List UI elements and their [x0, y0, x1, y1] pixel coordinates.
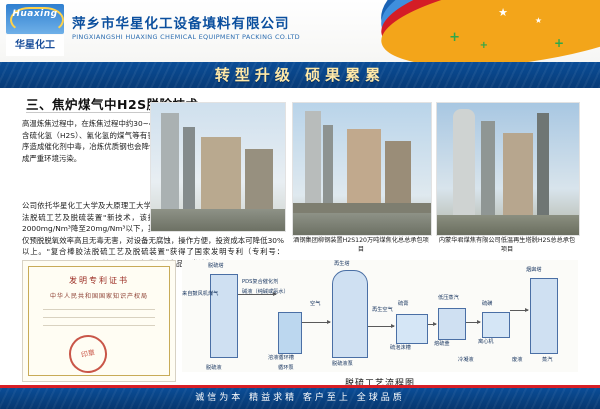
stream-label: 硫膏	[398, 300, 408, 307]
unit-label: 熔硫釜	[434, 340, 450, 347]
plus-icon: +	[449, 30, 460, 45]
building-shape	[245, 149, 273, 209]
unit-label: 烟囱塔	[526, 266, 542, 273]
plus-icon: +	[554, 36, 564, 50]
stream-label: 脱硫液泵	[332, 360, 353, 367]
tower-shape	[323, 125, 333, 215]
column-shape	[481, 121, 495, 215]
structure-shape	[503, 133, 533, 215]
logo-wordmark: Huaxing	[6, 9, 64, 19]
photo-ground	[437, 215, 579, 235]
brochure-page: Huaxing 华星化工 萍乡市华星化工设备填料有限公司 PINGXIANGSH…	[0, 0, 600, 409]
tower-shape	[305, 111, 321, 215]
photo-coke-oven-plant	[292, 102, 432, 236]
page-content: 三、焦炉煤气中H2S脱除技术 高温炼焦过程中，在炼焦过程中约30~40%以气态硫…	[0, 88, 600, 388]
plus-icon: +	[583, 18, 592, 31]
process-flow-diagram: 脱硫塔 溶液循环槽 再生塔 硫泡沫槽 熔硫釜 离心机 烟囱塔 来自鼓风机煤气 脱…	[182, 260, 578, 372]
stream-label: 再生空气	[372, 306, 393, 313]
patent-certificate: 发明专利证书 中华人民共和国国家知识产权局 印章	[22, 260, 176, 382]
unit-centrifuge	[482, 312, 510, 338]
stack-shape	[537, 113, 549, 215]
photo-caption-1: 酒钢集团柳钢装置H2S120万吨煤焦化总总承包项目	[292, 237, 430, 254]
stream-label: 冷凝液	[458, 356, 474, 363]
certificate-subtitle: 中华人民共和国国家知识产权局	[23, 291, 175, 300]
building-shape	[201, 137, 241, 209]
page-footer: 诚信为本 精益求精 客户至上 全球品质	[0, 388, 600, 409]
header-decoration: ★ ★ + + + +	[370, 0, 600, 62]
unit-desulfurization-tower	[210, 274, 238, 358]
certificate-title: 发明专利证书	[23, 275, 175, 286]
unit-label: 再生塔	[334, 260, 350, 267]
photo-caption-2: 内蒙华君煤焦有限公司低温再生塔脱H2S总总承包项目	[436, 237, 578, 254]
flow-arrow	[466, 322, 480, 323]
stream-label: PDS复合催化剂	[242, 278, 278, 285]
unit-label: 离心机	[478, 338, 494, 345]
unit-regeneration-tower	[332, 270, 368, 358]
tower-shape	[183, 127, 195, 209]
unit-label: 硫泡沫槽	[390, 344, 411, 351]
stream-label: 碱液（纯碱或氨水）	[242, 288, 289, 295]
walkway-shape	[293, 203, 431, 213]
tower-shape	[161, 113, 179, 209]
headline-banner: 转型升级 硕果累累	[0, 62, 600, 88]
flow-arrow	[510, 310, 528, 311]
unit-label: 溶液循环槽	[268, 354, 294, 361]
flow-arrow	[428, 324, 436, 325]
stream-label: 废液	[512, 356, 522, 363]
banner-title: 转型升级 硕果累累	[0, 62, 600, 88]
company-name-en: PINGXIANGSHI HUAXING CHEMICAL EQUIPMENT …	[72, 33, 300, 41]
unit-circulation-tank	[278, 312, 302, 354]
stream-label: 低压蒸汽	[438, 294, 459, 301]
photo-desulfurization-towers	[150, 102, 286, 232]
logo-company-name: 华星化工	[6, 35, 64, 56]
company-name-cn: 萍乡市华星化工设备填料有限公司	[72, 12, 290, 32]
flow-arrow	[368, 326, 394, 327]
flow-arrow	[302, 322, 330, 323]
stream-label: 来自鼓风机煤气	[182, 290, 218, 297]
unit-stack	[530, 278, 558, 354]
photo-ground	[293, 213, 431, 235]
page-header: Huaxing 华星化工 萍乡市华星化工设备填料有限公司 PINGXIANGSH…	[0, 0, 600, 62]
plus-icon: +	[480, 40, 488, 51]
star-icon: ★	[535, 16, 542, 25]
footer-slogan: 诚信为本 精益求精 客户至上 全球品质	[0, 388, 600, 409]
column-shape	[453, 109, 475, 215]
stream-label: 循环泵	[278, 364, 294, 371]
unit-sulfur-foam-tank	[396, 314, 428, 344]
certificate-rule	[43, 325, 155, 326]
unit-sulfur-melter	[438, 308, 466, 340]
photo-ground	[151, 209, 285, 231]
certificate-rule	[43, 317, 155, 318]
stream-label: 硫磺	[482, 300, 492, 307]
certificate-rule	[43, 309, 155, 310]
stream-label: 脱硫液	[206, 364, 222, 371]
photo-reactor-equipment	[436, 102, 580, 236]
star-icon: ★	[498, 6, 508, 19]
stream-label: 空气	[310, 300, 320, 307]
stream-label: 蒸汽	[542, 356, 552, 363]
company-logo: Huaxing 华星化工	[6, 4, 64, 56]
